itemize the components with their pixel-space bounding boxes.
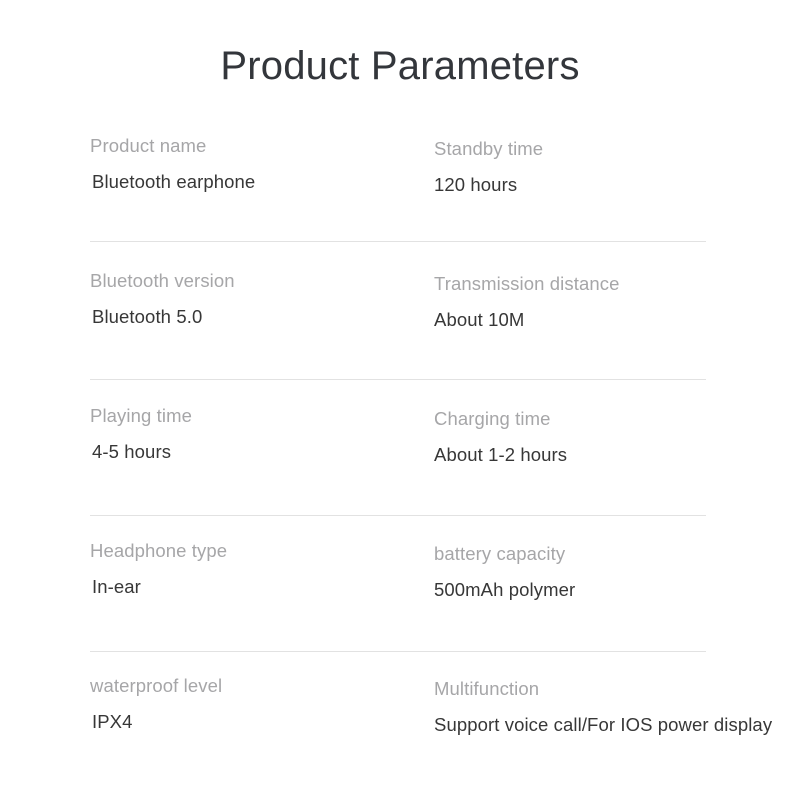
spec-value: 4-5 hours: [92, 440, 420, 464]
spec-label: Product name: [90, 134, 420, 158]
table-row: Bluetooth version Bluetooth 5.0 Transmis…: [0, 269, 800, 404]
spec-value: In-ear: [92, 575, 420, 599]
table-row: Headphone type In-ear battery capacity 5…: [0, 539, 800, 674]
spec-cell-headphone-type: Headphone type In-ear: [90, 539, 420, 599]
table-row: Product name Bluetooth earphone Standby …: [0, 134, 800, 269]
spec-cell-playing-time: Playing time 4-5 hours: [90, 404, 420, 464]
row-divider: [90, 379, 706, 380]
spec-label: Multifunction: [434, 677, 786, 701]
spec-label: Standby time: [434, 137, 786, 161]
spec-cell-charging-time: Charging time About 1-2 hours: [434, 404, 786, 467]
row-divider: [90, 515, 706, 516]
spec-cell-bluetooth-version: Bluetooth version Bluetooth 5.0: [90, 269, 420, 329]
spec-cell-standby-time: Standby time 120 hours: [434, 134, 786, 197]
spec-label: battery capacity: [434, 542, 786, 566]
specification-table: Product name Bluetooth earphone Standby …: [0, 134, 800, 809]
spec-value: Bluetooth earphone: [92, 170, 420, 194]
table-row: waterproof level IPX4 Multifunction Supp…: [0, 674, 800, 809]
spec-label: Charging time: [434, 407, 786, 431]
spec-label: waterproof level: [90, 674, 420, 698]
table-row: Playing time 4-5 hours Charging time Abo…: [0, 404, 800, 539]
spec-label: Playing time: [90, 404, 420, 428]
spec-cell-battery-capacity: battery capacity 500mAh polymer: [434, 539, 786, 602]
spec-value: IPX4: [92, 710, 420, 734]
spec-value: 500mAh polymer: [434, 578, 786, 602]
spec-value: Support voice call/For IOS power display: [434, 713, 786, 737]
spec-cell-transmission-distance: Transmission distance About 10M: [434, 269, 786, 332]
spec-value: 120 hours: [434, 173, 786, 197]
spec-label: Headphone type: [90, 539, 420, 563]
spec-cell-multifunction: Multifunction Support voice call/For IOS…: [434, 674, 786, 737]
spec-label: Bluetooth version: [90, 269, 420, 293]
page-title: Product Parameters: [0, 44, 800, 89]
spec-value: About 1-2 hours: [434, 443, 786, 467]
row-divider: [90, 241, 706, 242]
spec-value: About 10M: [434, 308, 786, 332]
spec-cell-product-name: Product name Bluetooth earphone: [90, 134, 420, 194]
product-parameters-sheet: Product Parameters Product name Bluetoot…: [0, 0, 800, 800]
row-divider: [90, 651, 706, 652]
spec-value: Bluetooth 5.0: [92, 305, 420, 329]
spec-cell-waterproof-level: waterproof level IPX4: [90, 674, 420, 734]
spec-label: Transmission distance: [434, 272, 786, 296]
